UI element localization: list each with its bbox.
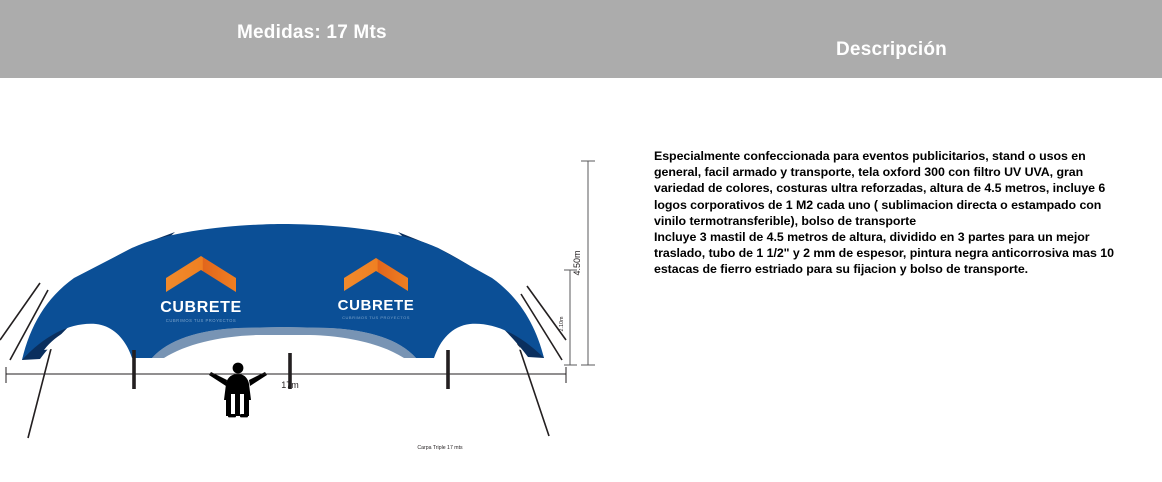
dimension-height-eave <box>564 270 577 365</box>
logo-wordmark-2: CUBRETE <box>338 297 415 314</box>
tent-diagram-panel: CUBRETE CUBRIMOS TUS PROYECTOS CUBRETE C… <box>0 78 640 482</box>
header-title-measures: Medidas: 17 Mts <box>237 22 387 44</box>
logo-wordmark: CUBRETE <box>160 299 242 316</box>
tent-illustration: CUBRETE CUBRIMOS TUS PROYECTOS CUBRETE C… <box>0 78 640 482</box>
dimension-height-total-label: 4.50m <box>572 250 582 275</box>
header-bar: Medidas: 17 Mts Descripción <box>0 0 1162 78</box>
dimension-width-label: 17m <box>281 380 299 390</box>
logo-tagline: CUBRIMOS TUS PROYECTOS <box>166 318 236 323</box>
dimension-height-total <box>581 161 595 365</box>
header-title-description: Descripción <box>836 39 947 61</box>
diagram-caption: Carpa Triple 17 mts <box>417 445 463 451</box>
logo-tagline-2: CUBRIMOS TUS PROYECTOS <box>342 315 410 320</box>
description-body: Especialmente confeccionada para eventos… <box>654 148 1132 278</box>
dimension-height-eave-label: 2.10m <box>559 316 565 331</box>
description-panel: Especialmente confeccionada para eventos… <box>654 148 1132 278</box>
human-scale-figure <box>209 363 267 418</box>
